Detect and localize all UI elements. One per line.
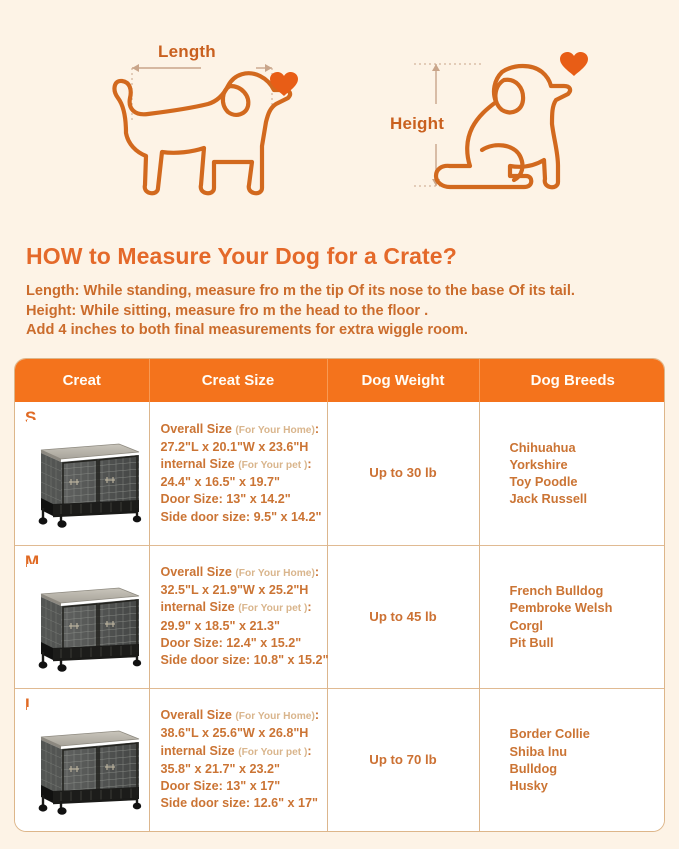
crate-image-cell: L bbox=[15, 688, 149, 831]
door-size-value: Door Size: 13" x 14.2" bbox=[161, 491, 319, 508]
dog-breed-item: Jack Russell bbox=[510, 490, 666, 507]
internal-size-label-line: internal Size (For Your pet ): bbox=[161, 743, 319, 761]
crate-image-cell: S bbox=[15, 402, 149, 545]
column-header-creat: Creat bbox=[15, 359, 149, 402]
internal-colon: : bbox=[307, 600, 311, 614]
dog-crate-large-photo bbox=[27, 707, 145, 819]
column-header-dog-breeds: Dog Breeds bbox=[479, 359, 665, 402]
crate-size-cell: Overall Size (For Your Home): 38.6"L x 2… bbox=[149, 688, 327, 831]
height-illustration: Height bbox=[384, 36, 634, 226]
infographic-page: Length Height bbox=[0, 0, 679, 849]
dog-breed-item: Husky bbox=[510, 777, 666, 794]
overall-size-value: 27.2"L x 20.1"W x 23.6"H bbox=[161, 439, 319, 456]
measurement-illustrations: Length Height bbox=[0, 0, 679, 228]
overall-size-label-line: Overall Size (For Your Home): bbox=[161, 421, 319, 439]
overall-size-label: Overall Size bbox=[161, 565, 236, 579]
dog-weight-cell: Up to 70 lb bbox=[327, 688, 479, 831]
dog-crate-small-photo bbox=[27, 420, 145, 532]
dog-weight-value: Up to 45 lb bbox=[369, 609, 436, 624]
internal-size-value: 35.8" x 21.7" x 23.2" bbox=[161, 761, 319, 778]
overall-size-note: (For Your Home) bbox=[235, 711, 314, 722]
overall-size-value: 32.5"L x 21.9"W x 25.2"H bbox=[161, 582, 319, 599]
column-header-dog-weight: Dog Weight bbox=[327, 359, 479, 402]
overall-size-label: Overall Size bbox=[161, 422, 236, 436]
dog-breed-item: Toy Poodle bbox=[510, 473, 666, 490]
overall-colon: : bbox=[315, 565, 319, 579]
overall-size-label-line: Overall Size (For Your Home): bbox=[161, 564, 319, 582]
height-label: Height bbox=[390, 114, 444, 134]
internal-colon: : bbox=[307, 457, 311, 471]
internal-size-note: (For Your pet ) bbox=[238, 747, 307, 758]
side-door-size-value: Side door size: 9.5" x 14.2" bbox=[161, 509, 319, 526]
internal-size-label-line: internal Size (For Your pet ): bbox=[161, 599, 319, 617]
internal-size-label: internal Size bbox=[161, 600, 239, 614]
table-row: M bbox=[15, 545, 665, 688]
table-row: L bbox=[15, 688, 665, 831]
heart-icon bbox=[560, 52, 588, 76]
dog-breed-item: Bulldog bbox=[510, 760, 666, 777]
internal-size-label-line: internal Size (For Your pet ): bbox=[161, 456, 319, 474]
overall-size-label: Overall Size bbox=[161, 708, 236, 722]
overall-size-label-line: Overall Size (For Your Home): bbox=[161, 707, 319, 725]
length-label: Length bbox=[158, 42, 216, 62]
page-title: HOW to Measure Your Dog for a Crate? bbox=[26, 243, 457, 270]
dog-weight-cell: Up to 45 lb bbox=[327, 545, 479, 688]
table-row: S bbox=[15, 402, 665, 545]
dog-breed-item: Border Collie bbox=[510, 725, 666, 742]
overall-size-note: (For Your Home) bbox=[235, 425, 314, 436]
internal-size-note: (For Your pet ) bbox=[238, 460, 307, 471]
overall-size-value: 38.6"L x 25.6"W x 26.8"H bbox=[161, 725, 319, 742]
instruction-line-length: Length: While standing, measure fro m th… bbox=[26, 282, 575, 302]
crate-size-cell: Overall Size (For Your Home): 32.5"L x 2… bbox=[149, 545, 327, 688]
dog-weight-value: Up to 30 lb bbox=[369, 465, 436, 480]
crate-size-cell: Overall Size (For Your Home): 27.2"L x 2… bbox=[149, 402, 327, 545]
door-size-value: Door Size: 13" x 17" bbox=[161, 778, 319, 795]
crate-image-cell: M bbox=[15, 545, 149, 688]
dog-weight-cell: Up to 30 lb bbox=[327, 402, 479, 545]
dog-breed-item: Yorkshire bbox=[510, 456, 666, 473]
internal-size-label: internal Size bbox=[161, 744, 239, 758]
overall-colon: : bbox=[315, 708, 319, 722]
dog-breed-item: Chihuahua bbox=[510, 439, 666, 456]
dog-weight-value: Up to 70 lb bbox=[369, 752, 436, 767]
internal-colon: : bbox=[307, 744, 311, 758]
instruction-line-extra: Add 4 inches to both final measurements … bbox=[26, 321, 575, 341]
internal-size-value: 29.9" x 18.5" x 21.3" bbox=[161, 618, 319, 635]
table-header-row: Creat Creat Size Dog Weight Dog Breeds bbox=[15, 359, 665, 402]
door-size-value: Door Size: 12.4" x 15.2" bbox=[161, 635, 319, 652]
dog-breed-item: Pembroke Welsh bbox=[510, 599, 666, 616]
overall-colon: : bbox=[315, 422, 319, 436]
dog-breeds-cell: Border CollieShiba lnuBulldogHusky bbox=[479, 688, 665, 831]
dog-breeds-cell: French BulldogPembroke WelshCorglPit Bul… bbox=[479, 545, 665, 688]
internal-size-value: 24.4" x 16.5" x 19.7" bbox=[161, 474, 319, 491]
dog-crate-medium-photo bbox=[27, 564, 145, 676]
length-illustration: Length bbox=[96, 28, 396, 218]
internal-size-note: (For Your pet ) bbox=[238, 603, 307, 614]
side-door-size-value: Side door size: 10.8" x 15.2" bbox=[161, 652, 319, 669]
internal-size-label: internal Size bbox=[161, 457, 239, 471]
instruction-line-height: Height: While sitting, measure fro m the… bbox=[26, 302, 575, 322]
column-header-creat-size: Creat Size bbox=[149, 359, 327, 402]
instructions-block: Length: While standing, measure fro m th… bbox=[26, 282, 575, 341]
overall-size-note: (For Your Home) bbox=[235, 568, 314, 579]
crate-size-table: Creat Creat Size Dog Weight Dog Breeds S bbox=[14, 358, 665, 832]
side-door-size-value: Side door size: 12.6" x 17" bbox=[161, 795, 319, 812]
dog-breed-item: Corgl bbox=[510, 617, 666, 634]
standing-dog-outline-icon bbox=[96, 28, 396, 218]
dog-breed-item: French Bulldog bbox=[510, 582, 666, 599]
dog-breed-item: Shiba lnu bbox=[510, 743, 666, 760]
heart-icon bbox=[270, 72, 298, 96]
table-body: S bbox=[15, 402, 665, 831]
dog-breed-item: Pit Bull bbox=[510, 634, 666, 651]
dog-breeds-cell: ChihuahuaYorkshireToy PoodleJack Russell bbox=[479, 402, 665, 545]
